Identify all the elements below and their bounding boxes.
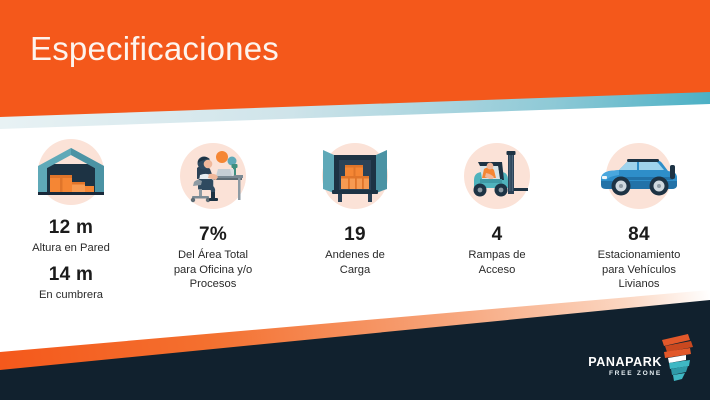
stat-item-office-area: 7% Del Área Total para Oficina y/o Proce… — [142, 138, 284, 303]
stat-item-access-ramps: 4 Rampas de Acceso — [426, 138, 568, 303]
stat-value: 12 m — [49, 217, 94, 239]
stat-item-parking: 84 Estacionamiento para Vehículos Livian… — [568, 138, 710, 303]
page-title: Especificaciones — [30, 30, 279, 68]
stat-caption: Altura en Pared — [32, 241, 110, 256]
warehouse-icon — [28, 138, 114, 207]
stat-caption: Estacionamiento para Vehículos Livianos — [598, 248, 681, 292]
office-worker-glyph — [178, 145, 248, 207]
truck-dock-icon — [312, 138, 398, 214]
logo-name: PANAPARK — [586, 356, 662, 369]
slide-canvas: Especificaciones — [0, 0, 710, 400]
suv-car-glyph — [597, 151, 681, 201]
stat-caption: Del Área Total para Oficina y/o Procesos — [174, 248, 252, 292]
stat-value: 7% — [199, 224, 227, 246]
forklift-icon — [454, 138, 540, 214]
stat-item-wall-height: 12 m Altura en Pared 14 m En cumbrera — [0, 138, 142, 303]
stat-value-secondary: 14 m — [49, 264, 94, 286]
truck-dock-glyph — [318, 145, 392, 207]
stat-caption: Andenes de Carga — [325, 248, 385, 278]
suv-car-icon — [596, 138, 682, 214]
panapark-logo: PANAPARK FREE ZONE — [586, 332, 696, 384]
stat-item-loading-docks: 19 Andenes de Carga — [284, 138, 426, 303]
logo-text-block: PANAPARK FREE ZONE — [586, 356, 662, 378]
logo-subtitle: FREE ZONE — [586, 371, 662, 378]
warehouse-glyph — [34, 142, 108, 202]
stat-value: 84 — [628, 224, 650, 246]
stat-caption: Rampas de Acceso — [468, 248, 525, 278]
header-banner: Especificaciones — [0, 0, 710, 135]
stat-value: 19 — [344, 224, 366, 246]
forklift-glyph — [460, 146, 534, 206]
logo-mark-icon — [660, 332, 694, 384]
office-worker-icon — [170, 138, 256, 214]
stat-value: 4 — [492, 224, 503, 246]
specs-row: 12 m Altura en Pared 14 m En cumbrera — [0, 138, 710, 303]
